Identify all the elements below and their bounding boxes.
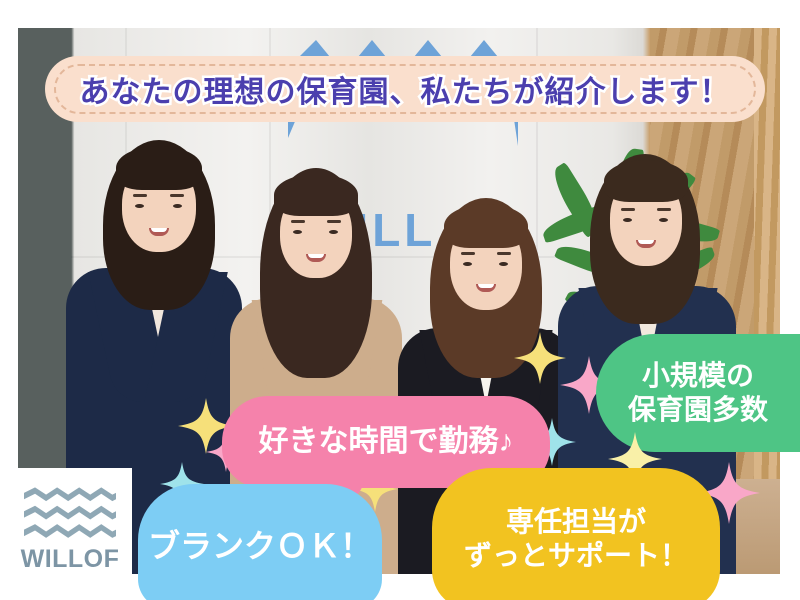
advertisement-banner: WILL [0, 0, 800, 600]
bubble-dedicated-support: 専任担当が ずっとサポート！ [432, 468, 720, 600]
willof-wordmark: WILLOF [21, 545, 120, 574]
headline-banner: あなたの理想の保育園、私たちが紹介します！ [45, 56, 765, 122]
bubble-pink-text: 好きな時間で勤務♪ [259, 424, 514, 461]
bubble-blank-ok: ブランクＯＫ！ [138, 484, 382, 600]
bubble-yellow-line-1: 専任担当が [464, 505, 688, 539]
sparkle-icon [514, 332, 566, 384]
bubble-green-line-2: 保育園多数 [628, 393, 768, 427]
bubble-yellow-line-2: ずっとサポート！ [464, 539, 688, 573]
bubble-blue-text: ブランクＯＫ！ [148, 527, 372, 566]
headline-text: あなたの理想の保育園、私たちが紹介します！ [80, 67, 731, 111]
willof-zigzag-icon [24, 486, 116, 542]
willof-logo: WILLOF [8, 468, 132, 592]
bubble-green-line-1: 小規模の [628, 359, 768, 393]
